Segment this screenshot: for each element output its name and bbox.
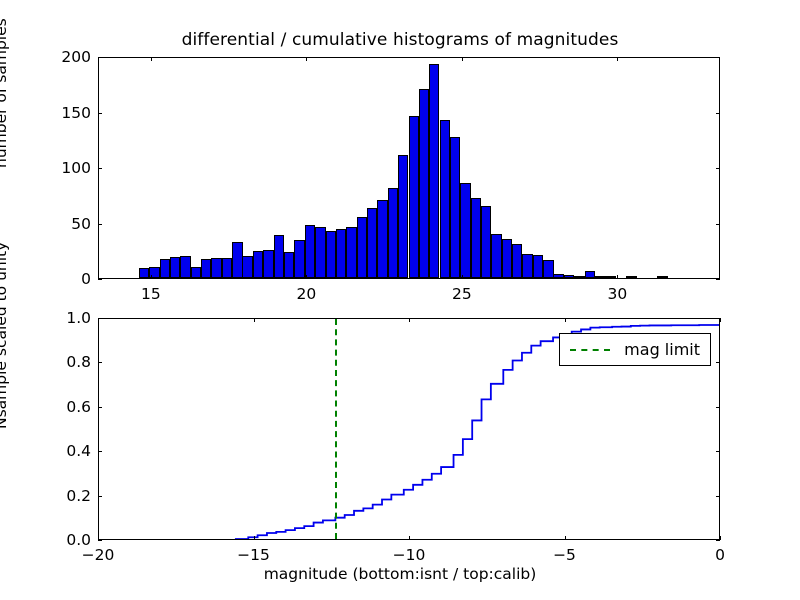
top-y-tick-label: 200 [61, 48, 91, 66]
top-y-tick [98, 57, 102, 58]
bottom-x-tick-label: −5 [553, 546, 576, 564]
histogram-bar [429, 64, 439, 278]
histogram-bar [346, 227, 356, 278]
bottom-x-tick [254, 536, 255, 540]
top-y-axis-label: number of samples [0, 18, 10, 168]
bottom-y-axis-label: Nsample scaled to unity [0, 242, 10, 429]
histogram-bar [336, 229, 346, 278]
legend: mag limit [559, 333, 711, 366]
histogram-bar [512, 244, 522, 278]
bottom-x-tick-label: 0 [715, 546, 725, 564]
histogram-bar [222, 258, 232, 278]
histogram-bar [491, 234, 501, 278]
bottom-y-tick [716, 362, 720, 363]
top-plot-area [99, 58, 719, 278]
top-x-tick [617, 275, 618, 279]
histogram-bar [481, 206, 491, 278]
top-x-tick [151, 57, 152, 61]
histogram-bar [274, 235, 284, 278]
histogram-bar [367, 208, 377, 278]
top-x-tick-label: 20 [296, 285, 316, 303]
top-y-tick-label: 0 [81, 270, 91, 288]
bottom-y-tick [716, 451, 720, 452]
bottom-y-tick [98, 407, 102, 408]
top-y-tick [716, 57, 720, 58]
top-x-tick [462, 57, 463, 61]
bottom-y-tick [98, 451, 102, 452]
top-histogram-axes [98, 57, 720, 279]
bottom-y-tick [98, 318, 102, 319]
histogram-bar [553, 274, 563, 278]
bottom-x-axis-label: magnitude (bottom:isnt / top:calib) [0, 565, 800, 583]
histogram-bar [574, 276, 584, 278]
top-x-tick [617, 57, 618, 61]
histogram-bar [315, 227, 325, 278]
top-y-tick-label: 100 [61, 159, 91, 177]
top-x-tick-label: 15 [141, 285, 161, 303]
bottom-x-tick [565, 536, 566, 540]
histogram-bar [657, 276, 667, 278]
legend-label-mag-limit: mag limit [624, 340, 700, 359]
histogram-bar [377, 200, 387, 278]
histogram-bar [409, 116, 419, 278]
mag-limit-line [335, 319, 337, 539]
top-y-tick [716, 224, 720, 225]
histogram-bar [543, 260, 553, 278]
bottom-y-tick-label: 0.8 [66, 353, 91, 371]
bottom-cumulative-axes: mag limit [98, 318, 720, 540]
bottom-y-tick [716, 407, 720, 408]
bottom-y-tick [98, 496, 102, 497]
histogram-bar [398, 155, 408, 278]
bottom-y-tick [716, 496, 720, 497]
top-y-tick [98, 224, 102, 225]
top-y-tick-label: 50 [71, 215, 91, 233]
histogram-bar [564, 275, 574, 278]
bottom-y-tick [98, 362, 102, 363]
histogram-bar [263, 250, 273, 278]
top-x-tick-label: 30 [607, 285, 627, 303]
mag-limit-legend-icon [570, 349, 610, 351]
figure-title: differential / cumulative histograms of … [0, 30, 800, 50]
histogram-bar [139, 268, 149, 278]
bottom-y-tick [716, 540, 720, 541]
histogram-bar [450, 137, 460, 278]
histogram-bar [585, 271, 595, 278]
histogram-bar [294, 240, 304, 278]
histogram-bar [170, 257, 180, 278]
top-y-tick [716, 113, 720, 114]
histogram-bar [419, 89, 429, 278]
top-y-tick-label: 150 [61, 104, 91, 122]
histogram-bar [180, 256, 190, 278]
histogram-bar [191, 267, 201, 278]
top-y-tick [98, 168, 102, 169]
top-x-tick-label: 25 [452, 285, 472, 303]
bottom-x-tick-label: −10 [393, 546, 426, 564]
histogram-bar [605, 276, 615, 278]
histogram-bar [595, 276, 605, 278]
histogram-bar [471, 198, 481, 278]
histogram-bar [388, 188, 398, 278]
bottom-x-tick [409, 318, 410, 322]
top-y-tick [98, 279, 102, 280]
bottom-y-tick-label: 0.6 [66, 398, 91, 416]
bottom-x-tick-label: −15 [237, 546, 270, 564]
top-y-tick [716, 279, 720, 280]
histogram-bar [201, 259, 211, 278]
histogram-bar [284, 252, 294, 278]
histogram-bar [211, 258, 221, 278]
bottom-x-tick [409, 536, 410, 540]
top-y-tick [716, 168, 720, 169]
bottom-y-tick-label: 1.0 [66, 309, 91, 327]
figure-canvas: differential / cumulative histograms of … [0, 0, 800, 600]
histogram-bar [357, 217, 367, 278]
bottom-y-tick-label: 0.4 [66, 442, 91, 460]
bottom-y-tick-label: 0.0 [66, 531, 91, 549]
bottom-y-tick-label: 0.2 [66, 487, 91, 505]
bottom-x-tick [720, 318, 721, 322]
bottom-x-tick [565, 318, 566, 322]
histogram-bar [522, 254, 532, 278]
top-x-tick [151, 275, 152, 279]
histogram-bar [626, 276, 636, 278]
top-y-tick [98, 113, 102, 114]
histogram-bar [440, 120, 450, 278]
histogram-bar [253, 251, 263, 278]
bottom-x-tick [720, 536, 721, 540]
bottom-y-tick [98, 540, 102, 541]
histogram-bar [502, 239, 512, 278]
top-x-tick [306, 275, 307, 279]
bottom-x-tick [254, 318, 255, 322]
histogram-bar [305, 225, 315, 278]
top-x-tick [462, 275, 463, 279]
histogram-bar [460, 183, 470, 278]
bottom-y-tick [716, 318, 720, 319]
histogram-bar [533, 255, 543, 278]
histogram-bar [232, 242, 242, 278]
histogram-bar [160, 259, 170, 278]
histogram-bar [242, 256, 252, 278]
top-x-tick [306, 57, 307, 61]
histogram-bar [326, 231, 336, 278]
